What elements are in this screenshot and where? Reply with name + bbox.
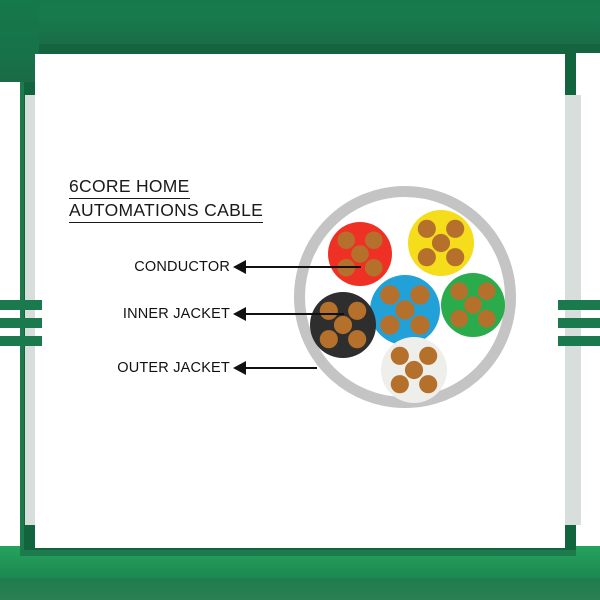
conductor-strand xyxy=(446,220,464,238)
conductor-strand xyxy=(478,282,496,300)
callout-conductor: CONDUCTOR xyxy=(110,258,230,276)
conductor-strand xyxy=(348,302,366,320)
diagram-canvas: 6CORE HOME AUTOMATIONS CABLE CONDUCTOR I… xyxy=(0,0,600,600)
conductor-strand xyxy=(337,231,355,249)
conductor-strand xyxy=(348,330,366,348)
conductor-strand xyxy=(419,375,437,393)
conductor-strand xyxy=(320,330,338,348)
callout-conductor-label: CONDUCTOR xyxy=(134,258,230,276)
conductor-strand xyxy=(410,285,429,304)
callout-outer-jacket: OUTER JACKET xyxy=(104,359,230,377)
conductor-strand xyxy=(446,248,464,266)
callout-outer-jacket-label: OUTER JACKET xyxy=(117,359,230,377)
conductor-strand xyxy=(395,300,414,319)
conductor-strand xyxy=(450,282,468,300)
conductor-strand xyxy=(478,310,496,328)
cable-cross-section xyxy=(0,0,600,600)
callout-outer-jacket-leader xyxy=(245,367,317,369)
conductor-strand xyxy=(365,231,383,249)
page-title: 6CORE HOME AUTOMATIONS CABLE xyxy=(69,176,263,224)
conductor-strand xyxy=(391,375,409,393)
conductor-strand xyxy=(365,259,383,277)
callout-inner-jacket-label: INNER JACKET xyxy=(123,305,230,323)
conductor-strand xyxy=(464,296,482,314)
conductor-strand xyxy=(419,347,437,365)
conductor-strand xyxy=(380,285,399,304)
conductor-strand xyxy=(418,220,436,238)
conductor-strand xyxy=(405,361,423,379)
callout-conductor-leader xyxy=(245,266,361,268)
conductor-strand xyxy=(334,316,352,334)
conductor-strand xyxy=(351,245,369,263)
conductor-strand xyxy=(391,347,409,365)
conductor-strand xyxy=(418,248,436,266)
conductor-strand xyxy=(410,315,429,334)
conductor-strand xyxy=(432,234,450,252)
conductor-strand xyxy=(320,302,338,320)
title-line-2: AUTOMATIONS CABLE xyxy=(69,200,263,223)
callout-inner-jacket-leader xyxy=(245,313,344,315)
title-line-1: 6CORE HOME xyxy=(69,176,190,199)
conductor-strand xyxy=(380,315,399,334)
callout-inner-jacket: INNER JACKET xyxy=(104,305,230,323)
conductor-strand xyxy=(450,310,468,328)
